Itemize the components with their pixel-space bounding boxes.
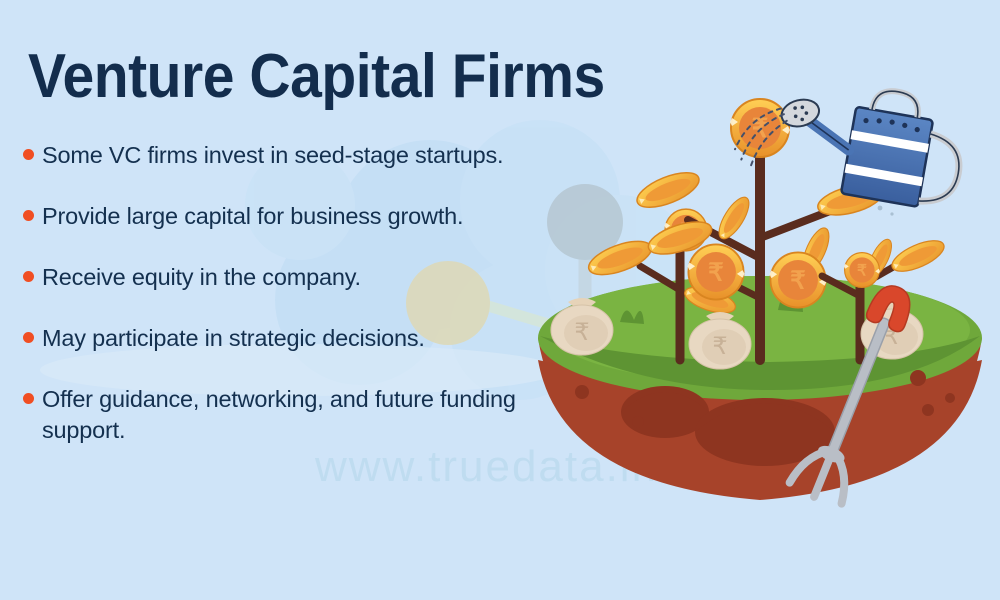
list-item: Offer guidance, networking, and future f… [22, 384, 582, 446]
bullet-text: Offer guidance, networking, and future f… [42, 386, 516, 443]
list-item: Some VC firms invest in seed-stage start… [22, 140, 582, 171]
bullet-dot-icon [23, 332, 34, 343]
bullet-dot-icon [23, 149, 34, 160]
floating-specks [878, 206, 894, 216]
list-item: May participate in strategic decisions. [22, 323, 582, 354]
bullet-dot-icon [23, 393, 34, 404]
infographic-canvas: Venture Capital Firms Some VC firms inve… [0, 0, 1000, 600]
bullet-text: Provide large capital for business growt… [42, 203, 463, 229]
bullet-list: Some VC firms invest in seed-stage start… [22, 140, 582, 476]
list-item: Receive equity in the company. [22, 262, 582, 293]
bullet-text: Receive equity in the company. [42, 264, 361, 290]
list-item: Provide large capital for business growt… [22, 201, 582, 232]
bullet-text: May participate in strategic decisions. [42, 325, 425, 351]
bullet-dot-icon [23, 210, 34, 221]
money-plant-illustration: ₹ ₹ [520, 60, 1000, 520]
page-title: Venture Capital Firms [28, 46, 605, 108]
bullet-text: Some VC firms invest in seed-stage start… [42, 142, 503, 168]
watering-can [731, 66, 971, 213]
bullet-dot-icon [23, 271, 34, 282]
